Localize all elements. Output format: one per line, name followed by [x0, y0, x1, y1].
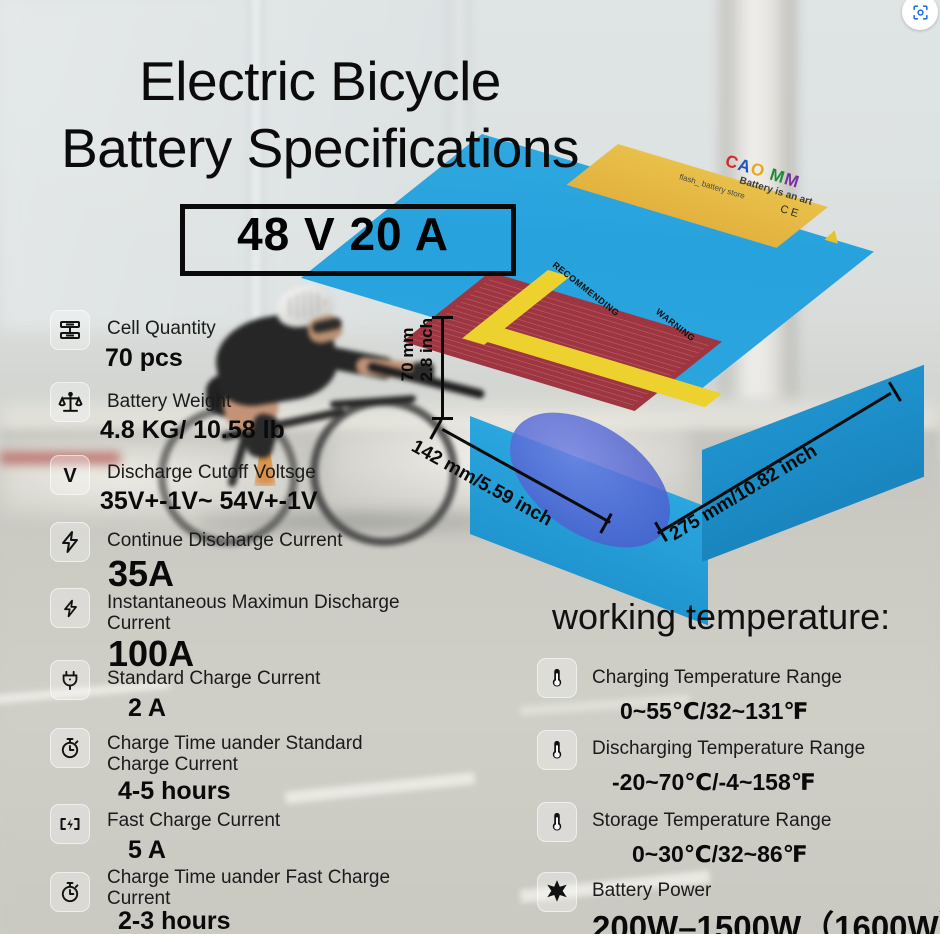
- dim-height-in: 2.8 inch: [417, 318, 436, 381]
- stopwatch-icon: [50, 872, 90, 912]
- spec-value: 35V+-1V~ 54V+-1V: [100, 487, 318, 516]
- power-label: Battery Power: [592, 880, 711, 902]
- spec-label: Cell Quantity: [107, 318, 216, 339]
- temp-value: 0~30℃/32~86℉: [632, 841, 808, 868]
- page-title-line-2: Battery Specifications: [0, 115, 640, 181]
- dimension-height-line: [441, 316, 444, 420]
- dim-height-mm: 70 mm: [398, 327, 417, 381]
- spec-label: Discharge Cutoff Voltsge: [107, 462, 316, 483]
- spec-value: 35A: [108, 553, 174, 595]
- spec-label: Charge Time uander Standard Charge Curre…: [107, 733, 417, 775]
- spec-value: 2 A: [128, 694, 166, 723]
- cell-stack-icon: [50, 310, 90, 350]
- voltage-v-icon: V: [50, 455, 90, 495]
- poster-canvas: CAO MM Battery is an art flash_ battery …: [0, 0, 940, 934]
- temp-label: Discharging Temperature Range: [592, 738, 865, 760]
- power-value: 200W–1500W（1600W）: [592, 901, 940, 934]
- temp-value: -20~70℃/-4~158℉: [612, 769, 816, 796]
- page-title-line-1: Electric Bicycle: [0, 48, 640, 114]
- thermometer-icon: [537, 802, 577, 842]
- spec-label: Continue Discharge Current: [107, 530, 343, 551]
- working-temperature-heading: working temperature:: [552, 596, 890, 638]
- spec-value: 70 pcs: [105, 344, 183, 373]
- temp-label: Charging Temperature Range: [592, 667, 842, 689]
- bolt-small-icon: [50, 588, 90, 628]
- spec-label: Standard Charge Current: [107, 668, 320, 689]
- plug-icon: [50, 660, 90, 700]
- svg-text:V: V: [63, 465, 77, 487]
- spec-label: Instantaneous Maximun Discharge Current: [107, 592, 407, 634]
- temp-value: 0~55℃/32~131℉: [620, 698, 808, 725]
- battery-charging-icon: [50, 804, 90, 844]
- spec-value: 5 A: [128, 836, 166, 865]
- temp-label: Storage Temperature Range: [592, 810, 831, 832]
- spec-label: Charge Time uander Fast Charge Current: [107, 867, 397, 909]
- spec-value: 4-5 hours: [118, 777, 231, 806]
- dimension-height-label: 70 mm2.8 inch: [398, 318, 436, 381]
- thermometer-icon: [537, 730, 577, 770]
- spec-label: Battery Weight: [107, 391, 231, 412]
- spec-value: 4.8 KG/ 10.58 lb: [100, 416, 285, 445]
- rating-badge: 48 V 20 A: [180, 203, 506, 265]
- spec-value: 2-3 hours: [118, 907, 231, 934]
- stopwatch-icon: [50, 728, 90, 768]
- bolt-icon: [50, 522, 90, 562]
- spec-label: Fast Charge Current: [107, 810, 280, 831]
- balance-scale-icon: [50, 382, 90, 422]
- thermometer-icon: [537, 658, 577, 698]
- star-burst-icon: [537, 872, 577, 912]
